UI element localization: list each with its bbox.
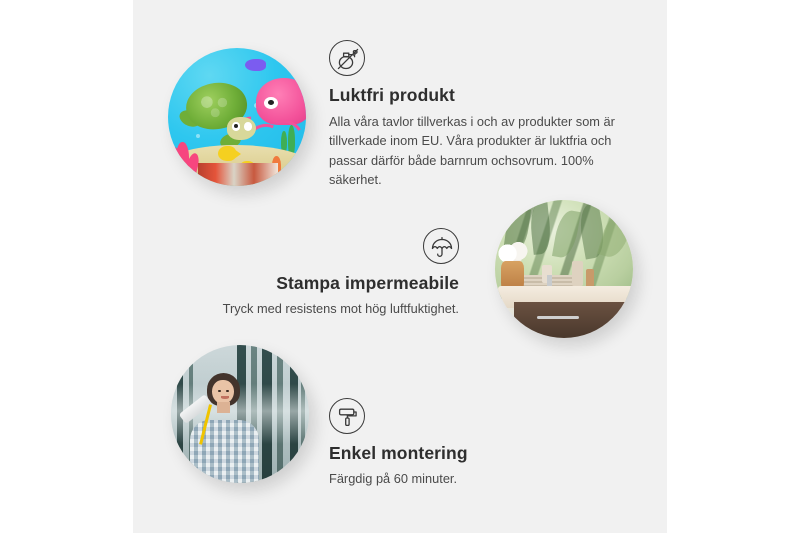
feature-image-easy-install: [171, 345, 309, 483]
content-canvas: Luktfri produkt Alla våra tavlor tillver…: [133, 0, 667, 533]
feature-description: Alla våra tavlor tillverkas i och av pro…: [329, 112, 629, 190]
woman-with-roller-photo: [171, 345, 309, 483]
feature-image-odourless: [168, 48, 306, 186]
feature-copy-easy-install: Enkel montering Färgdig på 60 minuter.: [329, 398, 629, 488]
paint-roller-icon: [329, 398, 365, 434]
no-fragrance-icon: [329, 40, 365, 76]
feature-copy-waterproof: Stampa impermeabile Tryck med resistens …: [163, 228, 459, 318]
product-feature-infographic: Luktfri produkt Alla våra tavlor tillver…: [0, 0, 800, 533]
feature-title: Stampa impermeabile: [163, 273, 459, 294]
bathroom-photo: [495, 200, 633, 338]
feature-description: Färgdig på 60 minuter.: [329, 469, 629, 488]
feature-title: Enkel montering: [329, 443, 629, 464]
feature-title: Luktfri produkt: [329, 85, 629, 106]
feature-copy-odourless: Luktfri produkt Alla våra tavlor tillver…: [329, 40, 629, 190]
feature-description: Tryck med resistens mot hög luftfuktighe…: [163, 299, 459, 318]
feature-image-waterproof: [495, 200, 633, 338]
underwater-illustration: [168, 48, 306, 186]
umbrella-icon: [423, 228, 459, 264]
octopus: [256, 78, 306, 125]
